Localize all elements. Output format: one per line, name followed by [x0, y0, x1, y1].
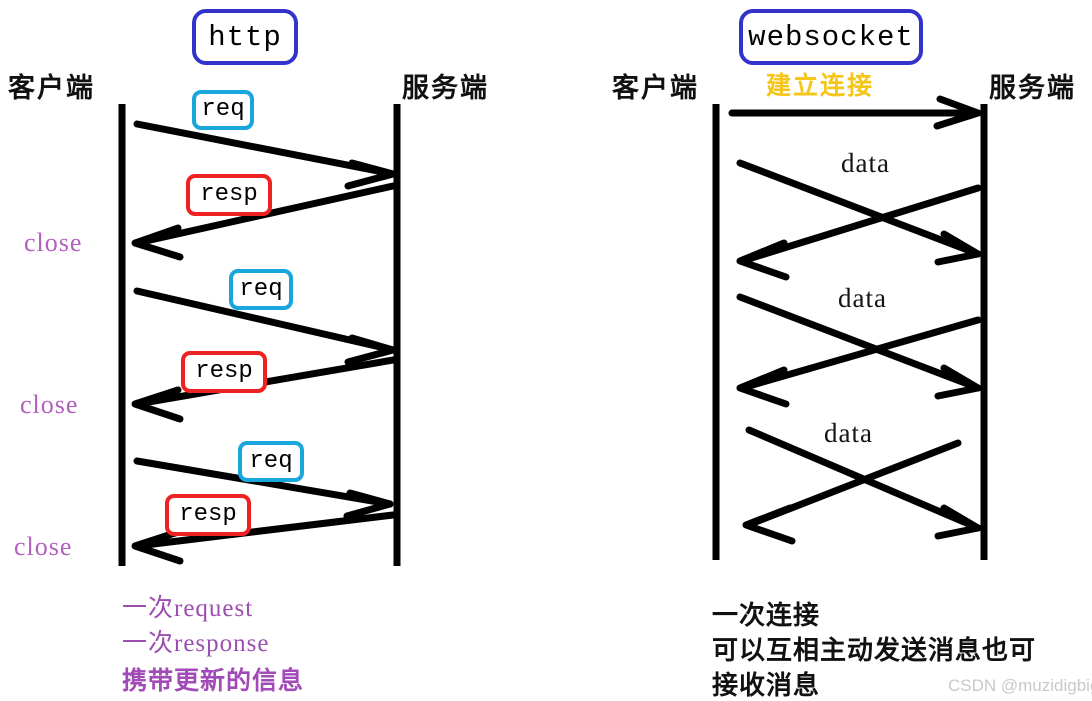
- ws-data-label-2: data: [838, 283, 887, 314]
- http-msg-chip-resp-2: resp: [181, 351, 267, 393]
- http-close-label-1: close: [24, 228, 82, 258]
- ws-data-label-3: data: [824, 418, 873, 449]
- ws-arrow-data-3-recv: [746, 443, 958, 541]
- http-close-label-2: close: [20, 390, 78, 420]
- http-msg-chip-resp-3: resp: [165, 494, 251, 536]
- ws-server-label: 服务端: [989, 66, 1076, 105]
- http-note-2: 一次response: [122, 623, 269, 659]
- protocol-chip-websocket: websocket: [739, 9, 923, 65]
- ws-arrow-handshake: [732, 99, 978, 126]
- ws-note-2: 可以互相主动发送消息也可: [712, 630, 1036, 667]
- http-msg-chip-req-1: req: [192, 90, 254, 130]
- http-server-label: 服务端: [402, 66, 489, 105]
- diagram-canvas: http 客户端 服务端 req resp req resp req resp …: [0, 0, 1092, 701]
- ws-note-1: 一次连接: [712, 595, 820, 632]
- protocol-chip-http: http: [192, 9, 298, 65]
- http-msg-chip-resp-1: resp: [186, 174, 272, 216]
- http-msg-chip-req-3: req: [238, 441, 304, 482]
- ws-handshake-label: 建立连接: [766, 66, 874, 102]
- ws-client-label: 客户端: [612, 66, 699, 105]
- ws-note-3: 接收消息: [712, 665, 820, 701]
- http-msg-chip-req-2: req: [229, 269, 293, 310]
- watermark: CSDN @muzidigbig: [948, 676, 1092, 696]
- ws-data-label-1: data: [841, 148, 890, 179]
- http-client-label: 客户端: [8, 66, 95, 105]
- http-close-label-3: close: [14, 532, 72, 562]
- http-note-3: 携带更新的信息: [122, 661, 304, 697]
- http-note-1: 一次request: [122, 588, 253, 624]
- ws-arrow-data-2-recv: [740, 320, 978, 404]
- ws-arrow-data-1-recv: [740, 188, 978, 277]
